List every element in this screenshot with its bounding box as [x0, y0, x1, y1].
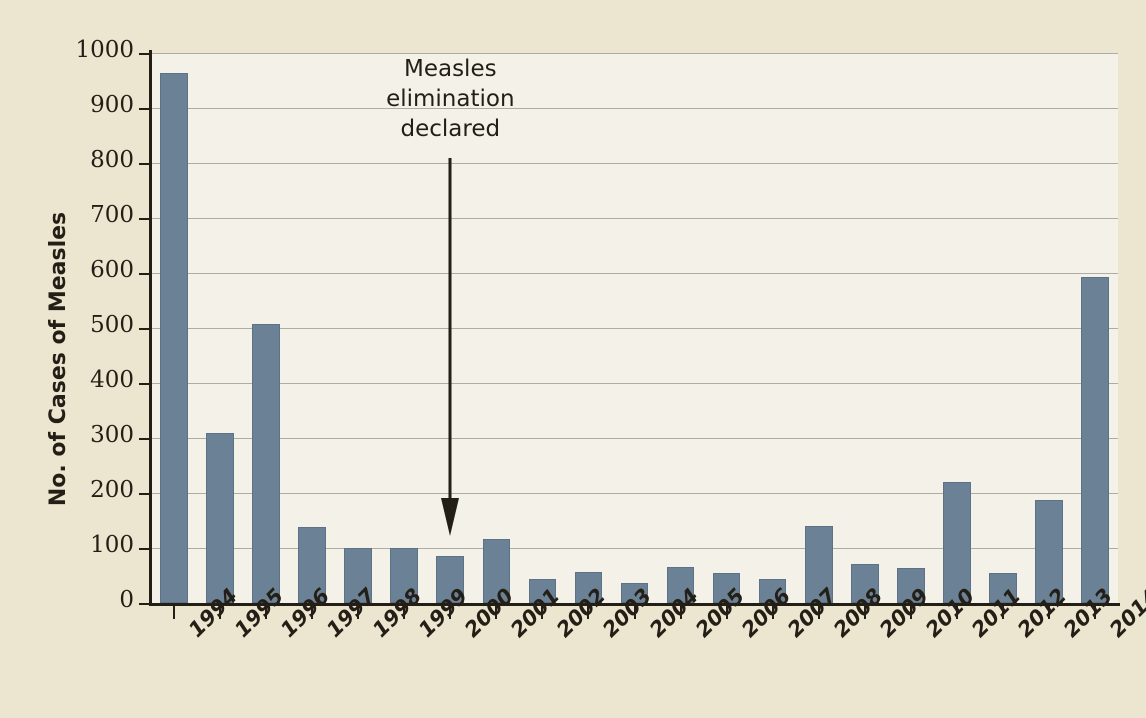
- annotation-line-3: declared: [321, 115, 579, 145]
- gridline: [151, 108, 1118, 109]
- y-tick-label: 900: [34, 92, 134, 118]
- gridline: [151, 218, 1118, 219]
- x-tick-mark: [173, 606, 175, 619]
- gridline: [151, 548, 1118, 549]
- bar-1994: [160, 73, 188, 603]
- y-tick-label: 1000: [34, 37, 134, 63]
- x-tick-mark: [634, 606, 636, 619]
- x-tick-label-2005: 2005: [691, 625, 708, 642]
- x-tick-mark: [1094, 606, 1096, 619]
- x-tick-label-1994: 1994: [184, 625, 201, 642]
- x-tick-label-1998: 1998: [368, 625, 385, 642]
- y-tick-label: 700: [34, 202, 134, 228]
- gridline: [151, 163, 1118, 164]
- y-axis-line: [149, 50, 152, 606]
- y-tick-label: 100: [34, 532, 134, 558]
- x-tick-mark: [772, 606, 774, 619]
- x-tick-mark: [403, 606, 405, 619]
- gridline: [151, 438, 1118, 439]
- x-tick-label-2007: 2007: [783, 625, 800, 642]
- y-tick-label: 500: [34, 312, 134, 338]
- plot-area: [151, 53, 1118, 603]
- x-tick-mark: [449, 606, 451, 619]
- x-tick-mark: [311, 606, 313, 619]
- x-tick-label-2000: 2000: [460, 625, 477, 642]
- y-tick-label: 600: [34, 257, 134, 283]
- y-tick-label: 0: [34, 587, 134, 613]
- bar-1995: [206, 433, 234, 603]
- gridline: [151, 273, 1118, 274]
- bar-2014: [1081, 277, 1109, 603]
- x-tick-mark: [587, 606, 589, 619]
- x-tick-label-1999: 1999: [414, 625, 431, 642]
- x-tick-label-1997: 1997: [322, 625, 339, 642]
- bar-2011: [943, 482, 971, 603]
- x-tick-label-2014: 2014: [1105, 625, 1122, 642]
- x-tick-mark: [726, 606, 728, 619]
- x-tick-mark: [956, 606, 958, 619]
- gridline: [151, 328, 1118, 329]
- x-tick-label-2002: 2002: [552, 625, 569, 642]
- x-tick-label-2001: 2001: [506, 625, 523, 642]
- x-tick-label-2004: 2004: [645, 625, 662, 642]
- x-tick-label-2006: 2006: [737, 625, 754, 642]
- x-tick-mark: [818, 606, 820, 619]
- annotation-label: Measleseliminationdeclared: [321, 55, 579, 145]
- x-tick-label-2013: 2013: [1059, 625, 1076, 642]
- x-tick-mark: [864, 606, 866, 619]
- x-tick-mark: [1048, 606, 1050, 619]
- x-tick-mark: [219, 606, 221, 619]
- annotation-line-2: elimination: [321, 85, 579, 115]
- y-axis-ticks: 01002003004005006007008009001000: [0, 0, 134, 718]
- x-tick-mark: [265, 606, 267, 619]
- measles-cases-bar-chart: No. of Cases of Measles 0100200300400500…: [0, 0, 1146, 718]
- bar-1996: [252, 324, 280, 603]
- gridline: [151, 383, 1118, 384]
- x-tick-label-2011: 2011: [967, 625, 984, 642]
- x-tick-label-2008: 2008: [829, 625, 846, 642]
- x-tick-mark: [357, 606, 359, 619]
- x-tick-label-1996: 1996: [276, 625, 293, 642]
- y-tick-label: 300: [34, 422, 134, 448]
- x-tick-mark: [680, 606, 682, 619]
- gridline: [151, 493, 1118, 494]
- x-tick-mark: [910, 606, 912, 619]
- down-arrow-icon: [441, 158, 459, 536]
- y-tick-label: 400: [34, 367, 134, 393]
- x-tick-label-2003: 2003: [598, 625, 615, 642]
- x-tick-label-2012: 2012: [1013, 625, 1030, 642]
- y-tick-label: 200: [34, 477, 134, 503]
- x-tick-mark: [495, 606, 497, 619]
- y-tick-label: 800: [34, 147, 134, 173]
- x-tick-label-2010: 2010: [921, 625, 938, 642]
- x-tick-mark: [1002, 606, 1004, 619]
- x-tick-label-1995: 1995: [230, 625, 247, 642]
- gridline: [151, 53, 1118, 54]
- annotation-line-1: Measles: [321, 55, 579, 85]
- x-tick-label-2009: 2009: [875, 625, 892, 642]
- x-tick-mark: [541, 606, 543, 619]
